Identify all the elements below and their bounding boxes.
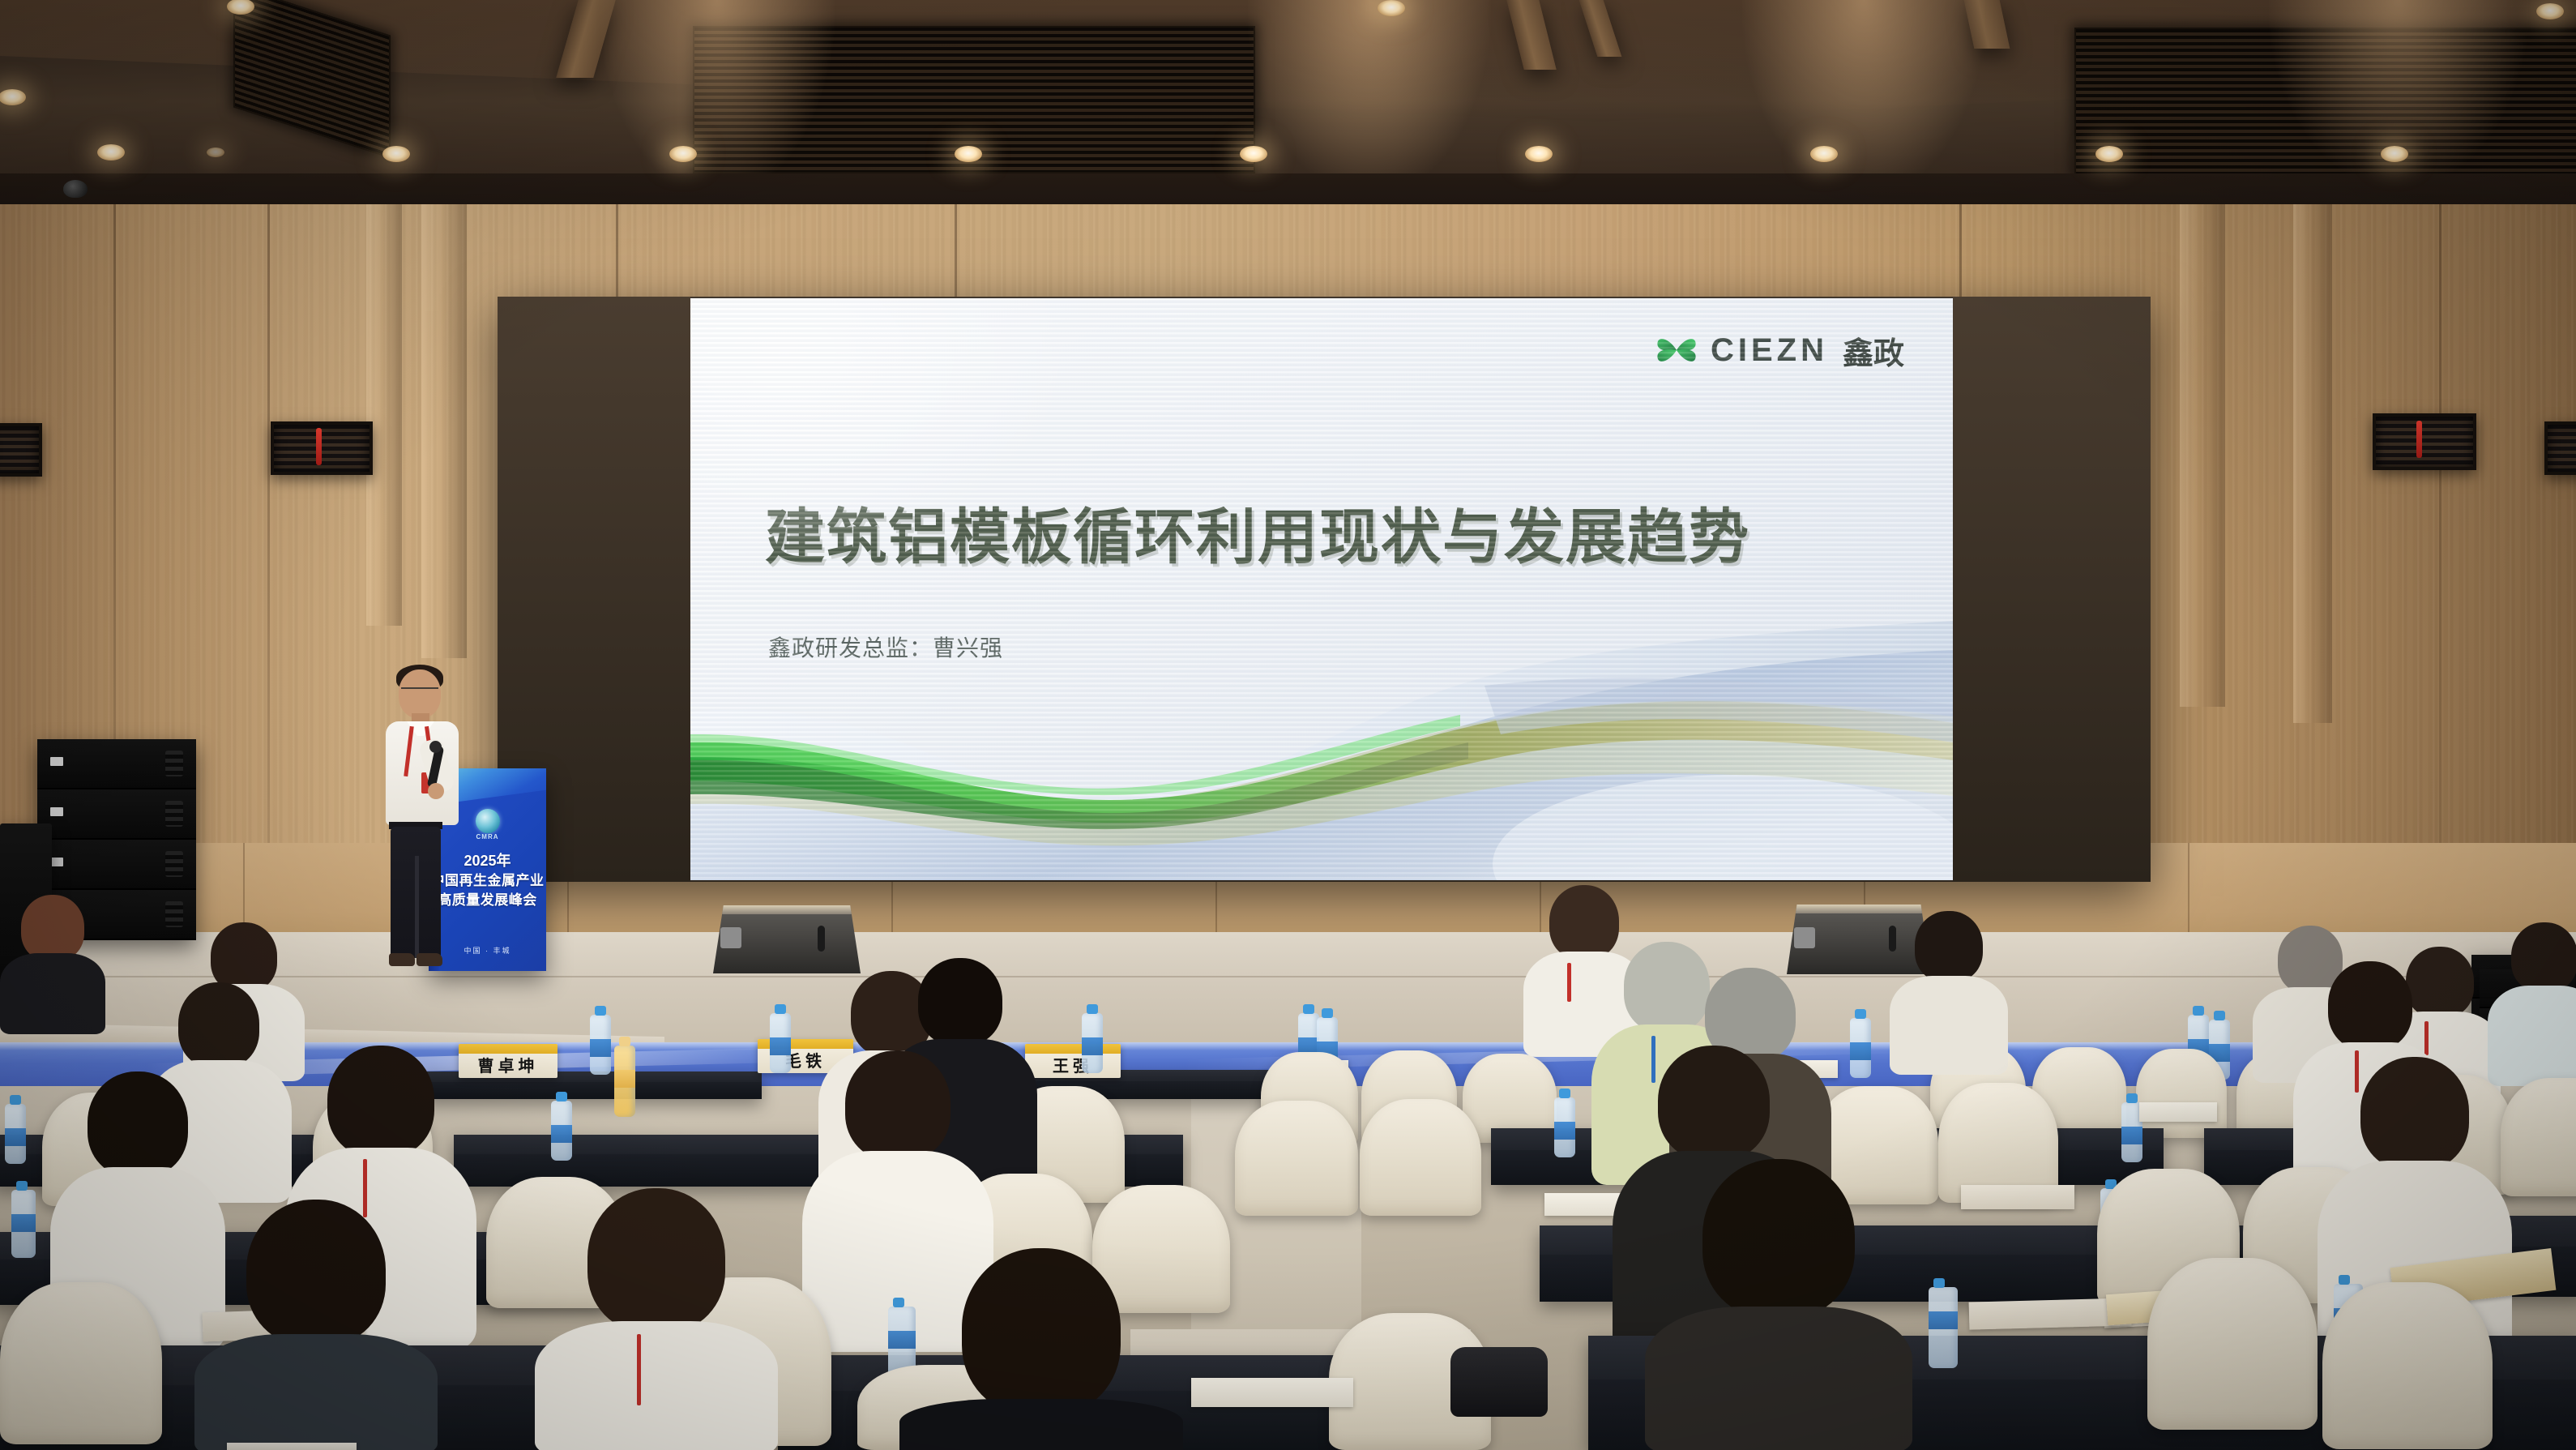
monitor-top-panel <box>722 905 852 914</box>
audience-chair <box>1360 1099 1481 1216</box>
audience-head <box>21 895 84 961</box>
water-bottle <box>551 1101 572 1161</box>
audience-head <box>1915 911 1983 982</box>
audience-head <box>2511 922 2576 992</box>
water-bottle <box>770 1013 791 1073</box>
wall-decor-niche <box>2544 421 2576 475</box>
line-array-module <box>37 789 196 840</box>
name-plate-name: 王强 <box>1025 1053 1121 1076</box>
cmra-logo-label: CMRA <box>476 833 499 840</box>
water-bottle <box>1554 1097 1575 1157</box>
audience-head <box>845 1050 951 1161</box>
beverage-bottle <box>614 1046 635 1117</box>
audience-head <box>918 958 1002 1046</box>
presentation-screen: CIEZN 鑫政 建筑铝模板循环利用现状与发展趋势 鑫政研发总监：曹兴强 <box>690 298 1953 880</box>
stage-monitor-wedge-left <box>713 905 861 973</box>
speaker-brand-badge <box>50 858 63 866</box>
audience-chair <box>2322 1282 2493 1449</box>
downlight <box>2095 146 2123 162</box>
audience-head <box>2360 1057 2469 1170</box>
screen-surround-right <box>1953 297 2151 882</box>
lanyard-strap <box>637 1334 641 1405</box>
slide-logo-latin-text: CIEZN <box>1711 332 1828 369</box>
downlight <box>2536 3 2564 19</box>
bag-on-floor <box>1450 1347 1548 1417</box>
downlight <box>97 144 125 160</box>
conference-document <box>1961 1185 2074 1209</box>
presenter-leg-gap <box>415 856 419 958</box>
audience-body <box>1890 976 2008 1075</box>
audience-body <box>194 1334 438 1450</box>
line-array-module <box>37 840 196 890</box>
water-bottle <box>5 1104 26 1164</box>
audience-member <box>2488 922 2576 1076</box>
audience-head <box>88 1071 188 1177</box>
audience-head <box>2328 961 2412 1050</box>
water-bottle <box>1850 1018 1871 1078</box>
ceiling-camera-dome <box>63 180 88 198</box>
downlight <box>0 89 26 105</box>
led-screen-assembly: CIEZN 鑫政 建筑铝模板循环利用现状与发展趋势 鑫政研发总监：曹兴强 <box>498 297 2151 882</box>
downlight <box>1810 146 1838 162</box>
audience-chair <box>2136 1049 2227 1138</box>
audience-body <box>535 1321 778 1450</box>
audience-member <box>1890 911 2008 1065</box>
audience-body <box>0 953 105 1034</box>
audience-head <box>246 1200 386 1345</box>
audience-head <box>962 1248 1121 1415</box>
notepad <box>227 1443 357 1450</box>
notepad <box>2139 1102 2217 1122</box>
wall-pillar <box>2293 204 2332 723</box>
downlight <box>382 146 410 162</box>
wall-pillar <box>2180 204 2225 707</box>
slide-brand-logo: CIEZN 鑫政 <box>1654 327 1904 373</box>
downlight <box>1240 146 1267 162</box>
audience-member <box>194 1200 438 1450</box>
name-plate: 王强 <box>1025 1044 1121 1078</box>
downlight <box>1525 146 1553 162</box>
downlight <box>669 146 697 162</box>
audience-head <box>327 1046 434 1157</box>
audience-chair <box>1235 1101 1358 1216</box>
downlight <box>2381 146 2408 162</box>
monitor-handle-slot <box>818 926 825 952</box>
ciezn-pinwheel-logo <box>1654 327 1699 373</box>
wall-decor-niche <box>271 421 373 475</box>
audience-body <box>899 1399 1183 1450</box>
slide-subtitle: 鑫政研发总监：曹兴强 <box>768 631 1003 663</box>
audience-member-foreground <box>899 1248 1183 1450</box>
audience-member <box>1645 1159 1912 1450</box>
cmra-logo <box>476 809 500 833</box>
niche-accent <box>316 428 322 465</box>
presenter-hand <box>428 783 444 799</box>
slide-logo-chinese-text: 鑫政 <box>1843 328 1904 373</box>
water-bottle <box>1082 1013 1103 1073</box>
presenter-shoe <box>389 953 415 966</box>
audience-head <box>1658 1046 1770 1161</box>
notepad <box>1191 1378 1353 1407</box>
stage-floor-seam <box>0 976 2576 977</box>
presenter-shoe <box>417 953 442 966</box>
audience-head <box>1702 1159 1855 1318</box>
presenter <box>378 665 467 971</box>
audience-member <box>0 895 105 1024</box>
niche-accent <box>2416 421 2422 458</box>
ceiling-vent <box>2074 28 2576 175</box>
audience-chair <box>2147 1258 2318 1430</box>
water-bottle <box>11 1190 36 1258</box>
wall-decor-niche <box>0 423 42 477</box>
conference-hall-photo: CIEZN 鑫政 建筑铝模板循环利用现状与发展趋势 鑫政研发总监：曹兴强 CMR… <box>0 0 2576 1450</box>
wall-pillar <box>421 204 467 658</box>
wall-decor-niche <box>2373 413 2476 470</box>
glasses-icon <box>401 687 438 696</box>
wall-pillar <box>366 204 402 626</box>
downlight <box>955 146 982 162</box>
water-bottle <box>1929 1287 1958 1368</box>
monitor-connector-panel <box>720 927 741 948</box>
downlight <box>1378 0 1405 16</box>
water-bottle <box>590 1015 611 1075</box>
lanyard-strap <box>1567 963 1571 1002</box>
speaker-brand-badge <box>50 757 63 766</box>
speaker-brand-badge <box>50 807 63 816</box>
slide-title: 建筑铝模板循环利用现状与发展趋势 <box>765 507 1750 567</box>
line-array-module <box>37 739 196 789</box>
audience-head <box>178 982 259 1068</box>
audience-body <box>1645 1307 1912 1450</box>
audience-member <box>535 1188 778 1450</box>
monitor-connector-panel <box>1794 927 1815 948</box>
audience-head <box>587 1188 725 1332</box>
audience-chair <box>0 1282 162 1444</box>
microphone-capsule <box>429 741 442 753</box>
